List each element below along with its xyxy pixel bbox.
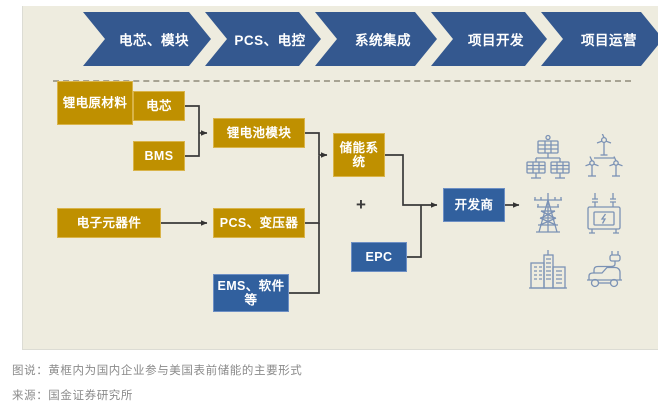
end-use-icon-grid: [521, 130, 631, 296]
solar-panel-icon: [521, 130, 575, 184]
node-epc[interactable]: EPC: [351, 242, 407, 272]
node-developer[interactable]: 开发商: [443, 188, 505, 222]
caption-note: 图说：黄框内为国内企业参与美国表前储能的主要形式: [12, 362, 302, 378]
figure-page: 电芯、模块 PCS、电控 系统集成 项目开发 项目运营: [0, 0, 660, 413]
node-ems-software[interactable]: EMS、软件等: [213, 274, 289, 312]
node-battery-module[interactable]: 锂电池模块: [213, 118, 305, 148]
node-energy-storage-system[interactable]: 储能系统: [333, 133, 385, 177]
node-pcs-transformer[interactable]: PCS、变压器: [213, 208, 305, 238]
transformer-icon: [577, 186, 631, 240]
ev-charging-icon: [577, 242, 631, 296]
wind-turbine-icon: [577, 130, 631, 184]
plus-symbol: +: [354, 198, 368, 212]
caption-source: 来源：国金证券研究所: [12, 387, 133, 403]
node-battery-cell[interactable]: 电芯: [133, 91, 185, 121]
diagram-canvas: 电芯、模块 PCS、电控 系统集成 项目开发 项目运营: [22, 6, 658, 350]
city-buildings-icon: [521, 242, 575, 296]
transmission-tower-icon: [521, 186, 575, 240]
node-electronic-components[interactable]: 电子元器件: [57, 208, 161, 238]
caption-block: 图说：黄框内为国内企业参与美国表前储能的主要形式 来源：国金证券研究所: [0, 352, 660, 413]
node-lithium-raw-material[interactable]: 锂电原材料: [57, 81, 133, 125]
node-bms[interactable]: BMS: [133, 141, 185, 171]
